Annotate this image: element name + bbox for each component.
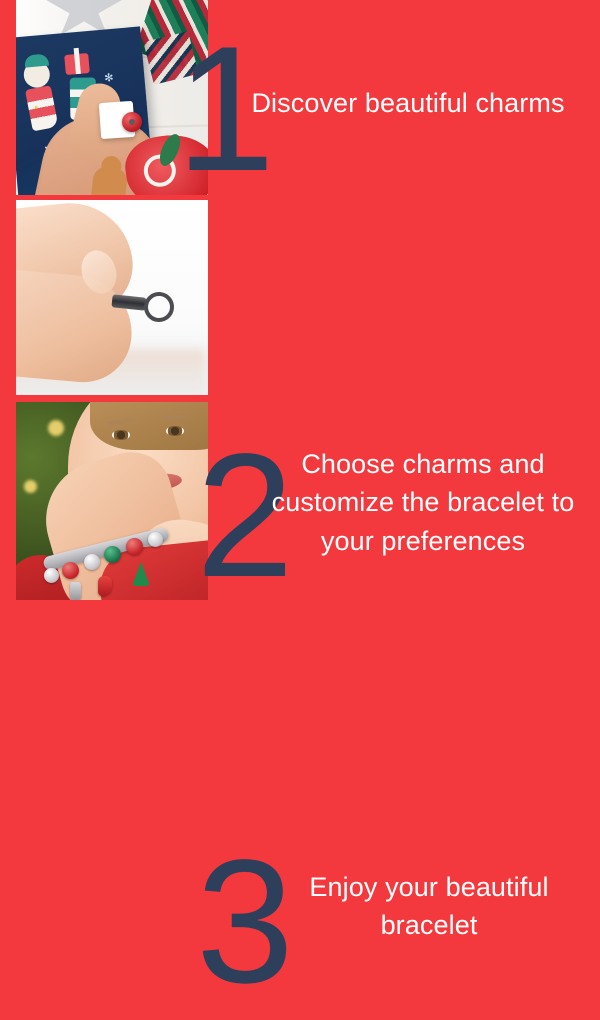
step-1-caption: Discover beautiful charms xyxy=(232,84,584,122)
silver-charm xyxy=(70,582,81,600)
red-charm-bead xyxy=(122,112,142,132)
gift-graphic xyxy=(64,53,90,75)
step-1: ✻ ✻ ✻ ✻ 1 Di xyxy=(0,0,600,195)
step-2: 2 Choose charms and customize the bracel… xyxy=(0,200,600,395)
red-bead xyxy=(126,538,143,555)
girl-hair xyxy=(90,402,208,450)
step-2-caption: Choose charms and customize the bracelet… xyxy=(258,445,588,560)
step-3-photo xyxy=(16,402,208,600)
bokeh-light xyxy=(24,480,37,493)
silver-bead xyxy=(44,568,59,583)
snowflake-icon: ✻ xyxy=(104,73,114,85)
stocking-graphic xyxy=(25,85,59,131)
silver-bead xyxy=(148,532,163,547)
eye xyxy=(166,426,184,436)
clasp-closeup-scene xyxy=(16,200,208,395)
bear-graphic xyxy=(23,61,51,89)
bokeh-light xyxy=(48,420,64,436)
promo-poster: ✻ ✻ ✻ ✻ 1 Di xyxy=(0,0,600,600)
red-bead xyxy=(62,562,79,579)
girl-with-bracelet-scene xyxy=(16,402,208,600)
step-2-photo xyxy=(16,200,208,395)
step-3-caption: Enjoy your beautiful bracelet xyxy=(274,868,584,945)
eye xyxy=(112,430,130,440)
green-tree-charm xyxy=(132,562,150,586)
green-bead xyxy=(104,546,121,563)
silver-bead xyxy=(84,554,100,570)
